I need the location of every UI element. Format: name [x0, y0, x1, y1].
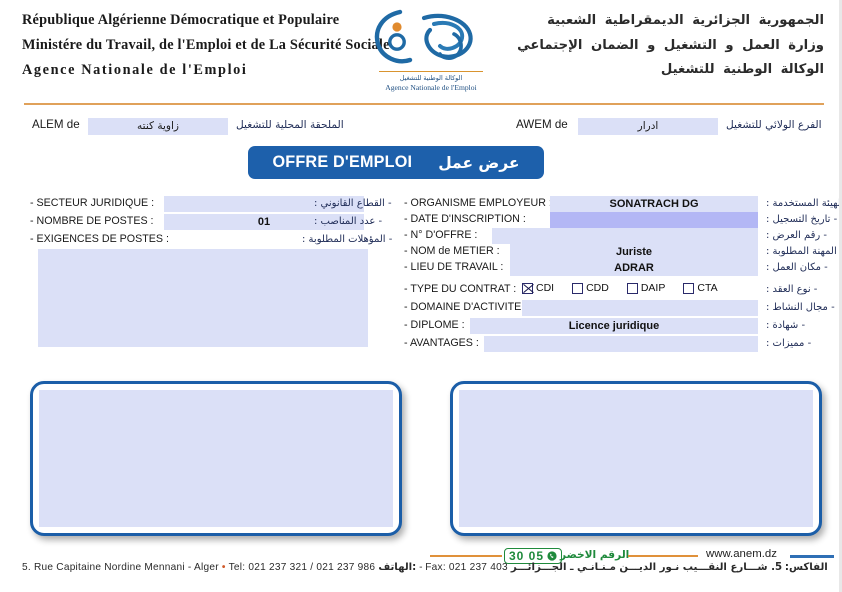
field-exigences-postes-label: - EXIGENCES DE POSTES :	[30, 233, 169, 245]
field-exigences-postes-textarea[interactable]	[38, 249, 368, 347]
field-diplome: - DIPLOME : Licence juridique - شهادة :	[404, 318, 834, 335]
field-nombre-postes-label: - NOMBRE DE POSTES :	[30, 215, 154, 227]
field-nombre-postes: - NOMBRE DE POSTES : 01 - عدد المناصب :	[30, 214, 390, 231]
contract-option-daip[interactable]: DAIP	[627, 282, 666, 294]
field-nom-metier-value[interactable]: Juriste	[510, 244, 758, 260]
footer-fax: Fax: 021 237 403	[425, 562, 508, 573]
contract-option-cdd-label: CDD	[586, 282, 609, 294]
field-organisme-employeur-value[interactable]: SONATRACH DG	[550, 196, 758, 212]
document-title-banner: OFFRE D'EMPLOI عرض عمل	[248, 146, 544, 179]
field-nombre-postes-label-ar: - عدد المناصب :	[314, 216, 382, 227]
checkbox-cta-icon[interactable]	[683, 283, 694, 294]
field-date-inscription-value[interactable]	[550, 212, 758, 228]
awem-label: AWEM de	[516, 118, 568, 131]
field-secteur-juridique-label-ar: - القطاع القانوني :	[314, 198, 392, 209]
field-avantages-value[interactable]	[484, 336, 758, 352]
contract-option-cdi[interactable]: CDI	[522, 282, 554, 294]
field-organisme-employeur-label-ar: - الهيئة المستخدمة :	[766, 198, 842, 209]
field-nom-metier-label-ar: - المهنة المطلوبة :	[766, 246, 842, 257]
phone-icon	[547, 551, 557, 561]
footer-rule-blue	[790, 555, 834, 558]
field-nom-metier-label: - NOM de METIER :	[404, 245, 500, 257]
logo-arabic-caption: الوكالة الوطنية للتشغيل	[370, 74, 492, 82]
banner-title-ar: عرض عمل	[438, 154, 519, 172]
contract-type-options: CDI CDD DAIP CTA	[522, 282, 736, 294]
header-ar-line-1: الجمهورية الجزائرية الديمقراطية الشعبية	[517, 9, 824, 34]
header-fr-line-1: République Algérienne Démocratique et Po…	[22, 8, 390, 33]
contract-option-cta[interactable]: CTA	[683, 282, 717, 294]
footer-address-line: 5. Rue Capitaine Nordine Mennani - Alger…	[22, 562, 828, 573]
anem-logo: الوكالة الوطنية للتشغيل Agence Nationale…	[370, 4, 492, 92]
field-numero-offre-label-ar: - رقم العرض :	[766, 230, 827, 241]
field-organisme-employeur: - ORGANISME EMPLOYEUR : SONATRACH DG - ا…	[404, 196, 834, 213]
header-ar-line-3: الوكالة الوطنية للتشغيل	[517, 58, 824, 83]
header-ar-line-2: وزارة العمل و التشغيل و الضمان الإجتماعي	[517, 34, 824, 59]
field-avantages-label-ar: - مميزات :	[766, 338, 811, 349]
header-french-title: République Algérienne Démocratique et Po…	[22, 8, 390, 83]
field-date-inscription-label-ar: - تاريخ التسجيل :	[766, 214, 837, 225]
field-exigences-postes-label-ar: - المؤهلات المطلوبة :	[302, 234, 392, 245]
field-type-contrat-label-ar: - نوع العقد :	[766, 284, 817, 295]
header-divider	[24, 103, 824, 105]
field-date-inscription-label: - DATE D'INSCRIPTION :	[404, 213, 526, 225]
footer-rule-orange-left	[430, 555, 502, 557]
checkbox-cdd-icon[interactable]	[572, 283, 583, 294]
section-activites-box[interactable]	[450, 381, 822, 536]
header-fr-line-3: Agence Nationale de l'Emploi	[22, 58, 390, 83]
field-numero-offre: - N° D'OFFRE : - رقم العرض :	[404, 228, 834, 245]
footer-address-ar: 5. شـــارع النقـــيب نـور الديـــن مـنـا…	[511, 562, 782, 573]
field-avantages-label: - AVANTAGES :	[404, 337, 479, 349]
office-row: ALEM de زاوية كنته الملحقة المحلية للتشغ…	[0, 115, 842, 137]
field-date-inscription: - DATE D'INSCRIPTION : - تاريخ التسجيل :	[404, 212, 834, 229]
alem-value[interactable]: زاوية كنته	[88, 118, 228, 135]
field-diplome-value[interactable]: Licence juridique	[470, 318, 758, 334]
website-link[interactable]: www.anem.dz	[706, 548, 777, 560]
field-domaine-activite-value[interactable]	[522, 300, 758, 316]
field-lieu-travail: - LIEU DE TRAVAIL : ADRAR - مكان العمل :	[404, 260, 834, 277]
footer-tel-label-ar: الهاتف:	[378, 562, 416, 573]
field-diplome-label-ar: - شهادة :	[766, 320, 805, 331]
anem-logo-icon	[370, 4, 492, 70]
field-diplome-label: - DIPLOME :	[404, 319, 465, 331]
offre-emploi-document: République Algérienne Démocratique et Po…	[0, 0, 842, 592]
alem-label: ALEM de	[32, 118, 80, 131]
green-number: 30 05	[509, 549, 544, 563]
field-numero-offre-value[interactable]	[492, 228, 758, 244]
contract-option-daip-label: DAIP	[641, 282, 666, 294]
footer-tel: Tel: 021 237 321 / 021 237 986	[229, 562, 376, 573]
header-fr-line-2: Ministére du Travail, de l'Emploi et de …	[22, 33, 390, 58]
footer-address-fr: 5. Rue Capitaine Nordine Mennani - Alger	[22, 562, 219, 573]
footer-fax-label-ar: الفاكس:	[785, 562, 828, 573]
footer-dash-1: -	[419, 562, 422, 573]
field-lieu-travail-label: - LIEU DE TRAVAIL :	[404, 261, 503, 273]
field-avantages: - AVANTAGES : - مميزات :	[404, 336, 834, 353]
field-numero-offre-label: - N° D'OFFRE :	[404, 229, 477, 241]
footer-separator-dot: •	[222, 562, 226, 573]
header-arabic-title: الجمهورية الجزائرية الديمقراطية الشعبية …	[517, 9, 824, 83]
field-secteur-juridique: - SECTEUR JURIDIQUE : - القطاع القانوني …	[30, 196, 390, 213]
alem-label-ar: الملحقة المحلية للتشغيل	[236, 119, 344, 131]
logo-french-caption: Agence Nationale de l'Emploi	[370, 83, 492, 92]
field-organisme-employeur-label: - ORGANISME EMPLOYEUR :	[404, 197, 552, 209]
field-secteur-juridique-label: - SECTEUR JURIDIQUE :	[30, 197, 154, 209]
checkbox-cdi-icon[interactable]	[522, 283, 533, 294]
contract-option-cta-label: CTA	[697, 282, 717, 294]
document-header: République Algérienne Démocratique et Po…	[0, 0, 842, 100]
checkbox-daip-icon[interactable]	[627, 283, 638, 294]
contract-option-cdd[interactable]: CDD	[572, 282, 609, 294]
contract-option-cdi-label: CDI	[536, 282, 554, 294]
logo-divider	[379, 71, 483, 72]
awem-label-ar: الفرع الولائي للتشغيل	[726, 119, 822, 131]
field-domaine-activite-label-ar: - مجال النشاط :	[766, 302, 835, 313]
footer-rule-orange-right	[628, 555, 698, 557]
field-lieu-travail-value[interactable]: ADRAR	[510, 260, 758, 276]
field-exigences-postes: - EXIGENCES DE POSTES : - المؤهلات المطل…	[30, 232, 390, 249]
awem-value[interactable]: ادرار	[578, 118, 718, 135]
field-lieu-travail-label-ar: - مكان العمل :	[766, 262, 828, 273]
section-competences-textarea[interactable]	[39, 390, 393, 527]
field-nom-metier: - NOM de METIER : Juriste - المهنة المطل…	[404, 244, 834, 261]
section-activites-textarea[interactable]	[459, 390, 813, 527]
field-domaine-activite: - DOMAINE D'ACTIVITE : - مجال النشاط :	[404, 300, 834, 317]
banner-title-fr: OFFRE D'EMPLOI	[272, 153, 412, 172]
field-type-contrat-label: - TYPE DU CONTRAT :	[404, 283, 516, 295]
section-competences-box[interactable]	[30, 381, 402, 536]
field-domaine-activite-label: - DOMAINE D'ACTIVITE :	[404, 301, 527, 313]
green-number-label-ar: الرقم الاخضر	[560, 549, 629, 561]
